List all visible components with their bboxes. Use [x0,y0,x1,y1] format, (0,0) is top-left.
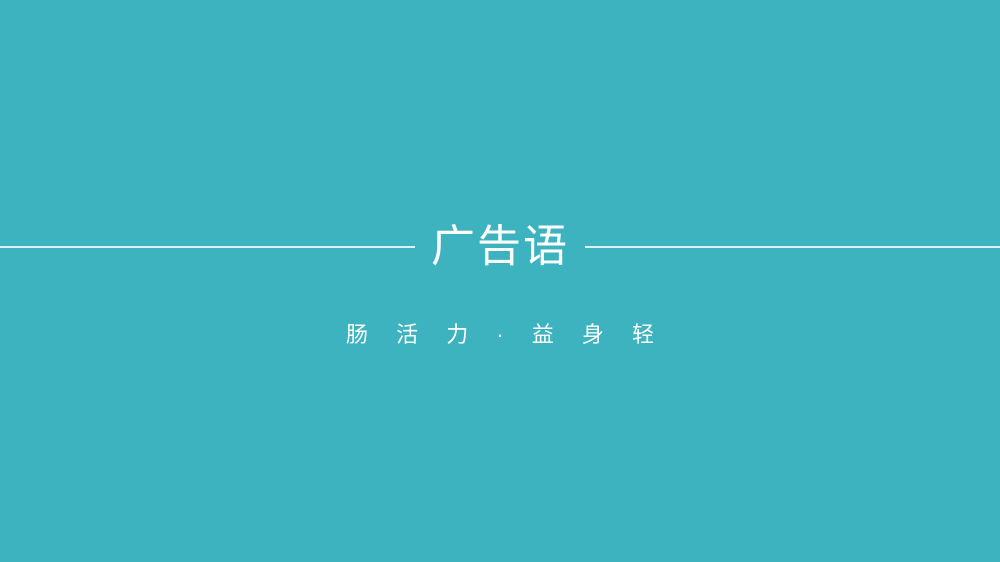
divider-line-right [585,246,1000,248]
slide-subtitle: 肠 活 力 · 益 身 轻 [335,320,665,351]
page-title: 广告语 [415,225,585,269]
divider-line-left [0,246,415,248]
subtitle-container: 肠 活 力 · 益 身 轻 [0,320,1000,351]
slide-canvas: 广告语 肠 活 力 · 益 身 轻 [0,0,1000,562]
title-container: 广告语 [415,225,585,269]
title-divider-band: 广告语 [0,216,1000,278]
